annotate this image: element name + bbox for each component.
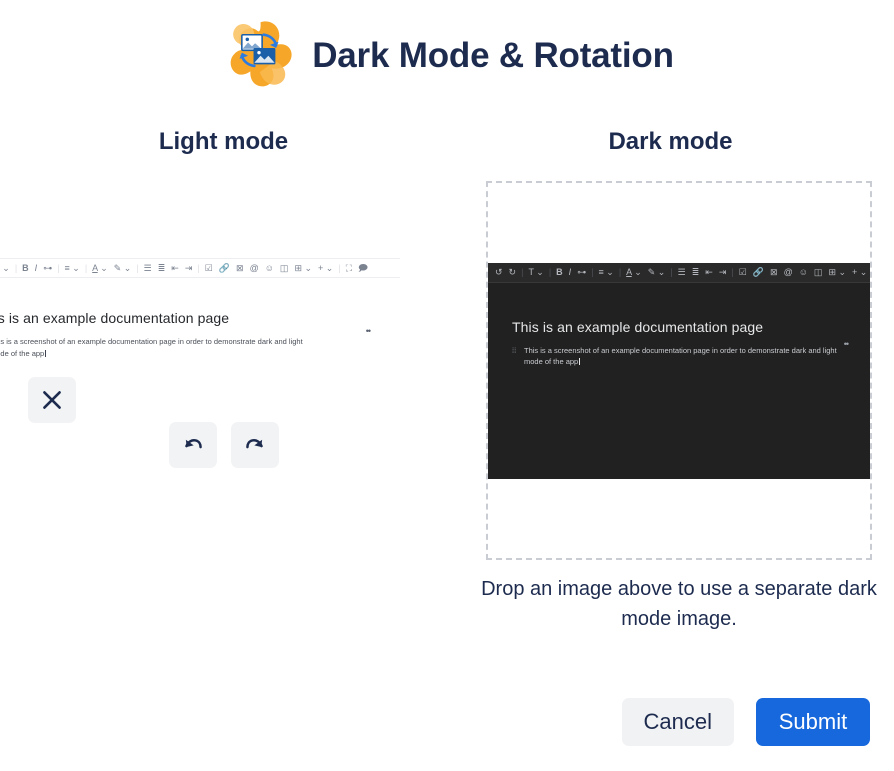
dark-preview-paragraph-text: This is a screenshot of an example docum… [524, 346, 837, 367]
table-dropdown-icon: ⊞ ⌄ [291, 259, 315, 277]
insert-dropdown-icon: + ⌄ [849, 263, 870, 281]
italic-icon: I [32, 259, 41, 277]
close-button[interactable] [28, 377, 76, 423]
italic-icon: I [566, 263, 575, 281]
dark-preview-document-heading: This is an example documentation page [512, 319, 846, 335]
rotate-images-flower-logo-icon [220, 16, 298, 94]
strikethrough-icon: ⊶ [574, 263, 589, 281]
light-mode-column: Light mode ↺ ↻ | T ⌄ | B I ⊶ | ≡ ⌄ | A ⌄… [0, 112, 447, 672]
mention-icon: @ [247, 259, 262, 277]
text-caret [45, 350, 46, 357]
text-color-dropdown-icon: A ⌄ [623, 263, 645, 281]
task-list-icon: ☑ [736, 263, 750, 281]
dark-mode-heading: Dark mode [447, 128, 894, 156]
rotate-left-button[interactable] [169, 422, 217, 468]
dark-preview-document-paragraph: ⁞⁞ This is a screenshot of an example do… [512, 345, 847, 368]
dark-mode-dropzone[interactable]: ↺ ↻ | T ⌄ | B I ⊶ | ≡ ⌄ | A ⌄ ✎ ⌄ | ☰ ≣ [486, 181, 872, 560]
preview-document-paragraph: ⁞⁞ This is a screenshot of an example do… [0, 336, 313, 359]
page-header: Dark Mode & Rotation [0, 0, 894, 92]
strikethrough-icon: ⊶ [40, 259, 55, 277]
columns-icon: ◫ [811, 263, 826, 281]
dropzone-hint-text: Drop an image above to use a separate da… [479, 574, 879, 634]
numbered-list-icon: ≣ [689, 263, 703, 281]
highlight-color-dropdown-icon: ✎ ⌄ [111, 259, 135, 277]
bullet-list-icon: ☰ [141, 259, 155, 277]
image-icon: ⊠ [233, 259, 247, 277]
mode-columns: Light mode ↺ ↻ | T ⌄ | B I ⊶ | ≡ ⌄ | A ⌄… [0, 112, 894, 672]
cancel-button[interactable]: Cancel [622, 698, 734, 746]
close-icon [39, 387, 65, 413]
dark-preview-toolbar: ↺ ↻ | T ⌄ | B I ⊶ | ≡ ⌄ | A ⌄ ✎ ⌄ | ☰ ≣ [488, 263, 870, 283]
align-dropdown-icon: ≡ ⌄ [596, 263, 617, 281]
link-icon: 🔗 [750, 263, 767, 281]
task-list-icon: ☑ [202, 259, 216, 277]
dark-mode-preview-image: ↺ ↻ | T ⌄ | B I ⊶ | ≡ ⌄ | A ⌄ ✎ ⌄ | ☰ ≣ [488, 263, 870, 479]
preview-toolbar: ↺ ↻ | T ⌄ | B I ⊶ | ≡ ⌄ | A ⌄ ✎ ⌄ | ☰ ≣ … [0, 258, 400, 278]
submit-button[interactable]: Submit [756, 698, 870, 746]
redo-arrow-icon [242, 432, 268, 458]
text-caret [579, 358, 580, 365]
undo-arrow-icon [180, 432, 206, 458]
dark-preview-document-body: •• This is an example documentation page… [488, 319, 870, 368]
numbered-list-icon: ≣ [155, 259, 169, 277]
bold-icon: B [19, 259, 32, 277]
preview-drag-handle-icon: •• [366, 326, 370, 336]
preview-document-body: •• This is an example documentation page… [0, 310, 400, 359]
link-icon: 🔗 [216, 259, 233, 277]
preview-document-heading: This is an example documentation page [0, 310, 376, 326]
text-style-dropdown-icon: T ⌄ [525, 263, 546, 281]
comment-icon: 🗩 [355, 259, 371, 277]
undo-icon: ↺ [492, 263, 506, 281]
image-icon: ⊠ [767, 263, 781, 281]
paragraph-drag-handle-icon: ⁞⁞ [512, 345, 516, 357]
align-dropdown-icon: ≡ ⌄ [62, 259, 83, 277]
light-mode-preview-image: ↺ ↻ | T ⌄ | B I ⊶ | ≡ ⌄ | A ⌄ ✎ ⌄ | ☰ ≣ … [0, 258, 400, 384]
bold-icon: B [553, 263, 566, 281]
highlight-color-dropdown-icon: ✎ ⌄ [645, 263, 669, 281]
outdent-icon: ⇤ [168, 259, 182, 277]
dialog-footer: Cancel Submit [0, 672, 894, 771]
insert-dropdown-icon: + ⌄ [315, 259, 336, 277]
emoji-icon: ☺ [796, 263, 811, 281]
text-style-dropdown-icon: T ⌄ [0, 259, 13, 277]
rotation-controls [0, 422, 447, 468]
page-title: Dark Mode & Rotation [312, 38, 674, 73]
rotate-right-button[interactable] [231, 422, 279, 468]
outdent-icon: ⇤ [702, 263, 716, 281]
table-dropdown-icon: ⊞ ⌄ [825, 263, 849, 281]
mention-icon: @ [781, 263, 796, 281]
columns-icon: ◫ [277, 259, 292, 277]
emoji-icon: ☺ [262, 259, 277, 277]
dark-mode-column: Dark mode ↺ ↻ | T ⌄ | B I ⊶ | ≡ ⌄ | A ⌄ … [447, 112, 894, 672]
bullet-list-icon: ☰ [675, 263, 689, 281]
light-mode-heading: Light mode [0, 128, 447, 156]
text-color-dropdown-icon: A ⌄ [89, 259, 111, 277]
indent-icon: ⇥ [182, 259, 196, 277]
redo-icon: ↻ [506, 263, 520, 281]
expand-icon: ⛶ [343, 259, 355, 277]
indent-icon: ⇥ [716, 263, 730, 281]
